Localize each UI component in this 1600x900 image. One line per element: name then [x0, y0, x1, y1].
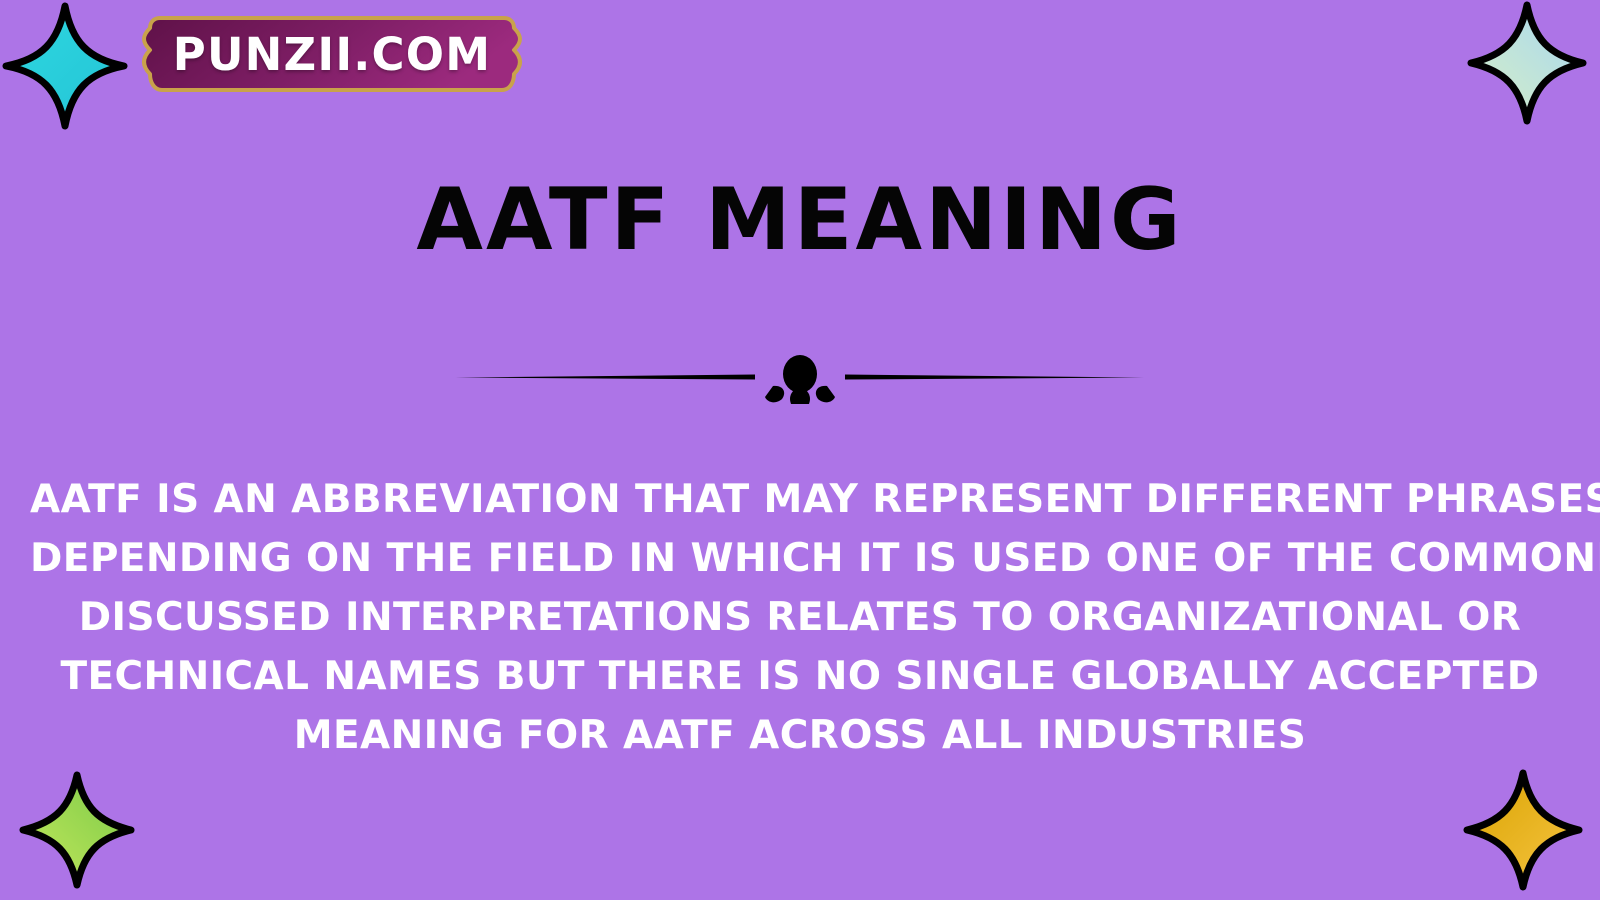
four-point-star-icon	[1466, 0, 1588, 126]
page-title: AATF MEANING	[0, 170, 1600, 270]
poster-card: PUNZII.COM AATF MEANING AATF IS AN ABBRE…	[0, 0, 1600, 900]
description-line: DEPENDING ON THE FIELD IN WHICH IT IS US…	[30, 529, 1570, 588]
site-logo-badge[interactable]: PUNZII.COM	[136, 12, 528, 96]
description-line: TECHNICAL NAMES BUT THERE IS NO SINGLE G…	[30, 647, 1570, 706]
four-point-star-icon	[1462, 768, 1584, 892]
description-line: DISCUSSED INTERPRETATIONS RELATES TO ORG…	[30, 588, 1570, 647]
floral-ornament-divider-icon	[455, 352, 1145, 404]
description-text: AATF IS AN ABBREVIATION THAT MAY REPRESE…	[30, 470, 1570, 765]
site-logo-text: PUNZII.COM	[136, 12, 528, 96]
four-point-star-icon	[18, 770, 136, 890]
description-line: AATF IS AN ABBREVIATION THAT MAY REPRESE…	[30, 470, 1570, 529]
four-point-star-icon	[2, 2, 128, 130]
description-line: MEANING FOR AATF ACROSS ALL INDUSTRIES	[30, 706, 1570, 765]
